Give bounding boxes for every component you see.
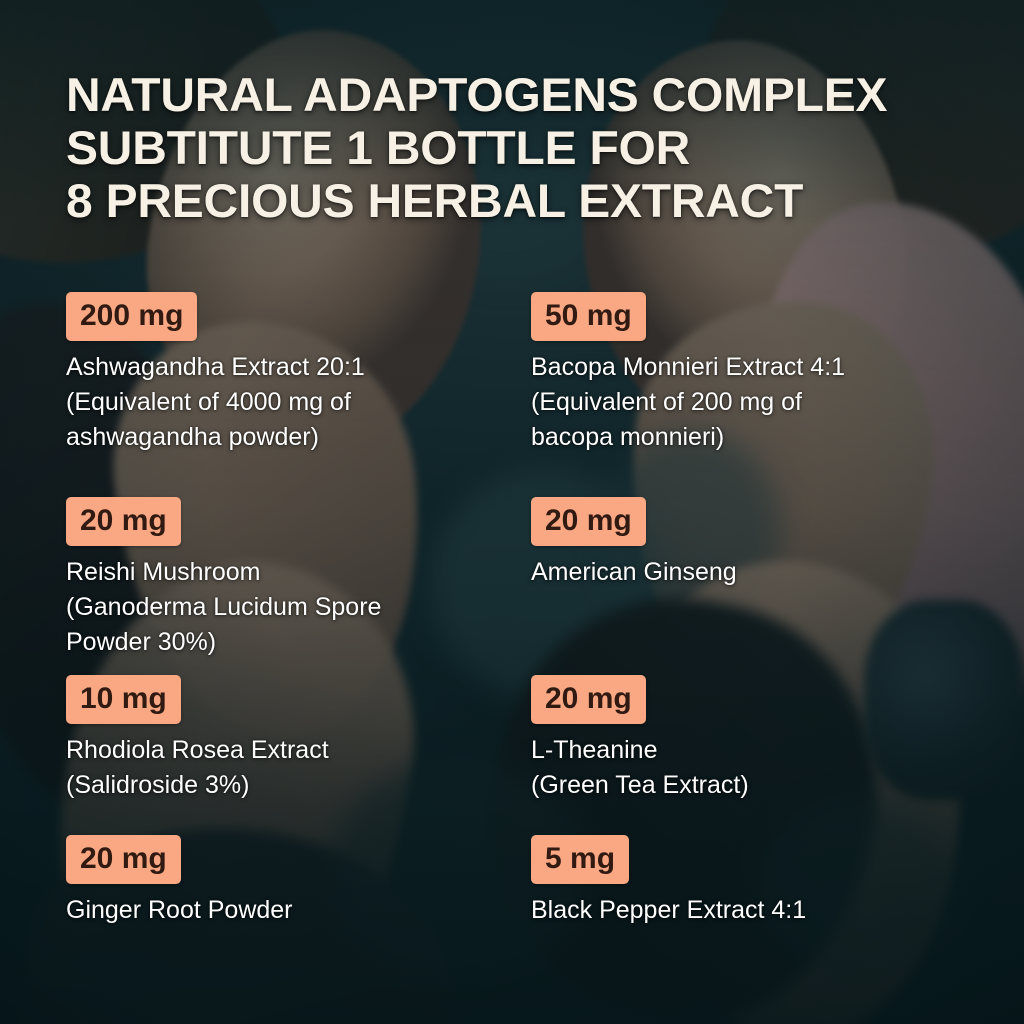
ingredient-description: Bacopa Monnieri Extract 4:1 (Equivalent …	[531, 350, 961, 455]
ingredient-item: 20 mg Reishi Mushroom (Ganoderma Lucidum…	[66, 497, 536, 660]
dose-badge: 5 mg	[531, 835, 629, 884]
headline-line-1: NATURAL ADAPTOGENS COMPLEX	[66, 68, 984, 121]
ingredient-item: 20 mg American Ginseng	[531, 497, 1001, 590]
ingredient-item: 5 mg Black Pepper Extract 4:1	[531, 835, 1001, 928]
ingredient-description: Ginger Root Powder	[66, 893, 496, 928]
poster-content: NATURAL ADAPTOGENS COMPLEX SUBTITUTE 1 B…	[0, 0, 1024, 1024]
dose-badge: 20 mg	[531, 675, 646, 724]
ingredient-line: Black Pepper Extract 4:1	[531, 893, 961, 928]
ingredient-description: Reishi Mushroom (Ganoderma Lucidum Spore…	[66, 555, 496, 660]
dose-badge: 20 mg	[66, 497, 181, 546]
ingredient-line: (Ganoderma Lucidum Spore	[66, 590, 496, 625]
headline-line-2: SUBTITUTE 1 BOTTLE FOR	[66, 121, 984, 174]
ingredient-line: Ginger Root Powder	[66, 893, 496, 928]
ingredient-line: (Equivalent of 200 mg of	[531, 385, 961, 420]
ingredient-item: 20 mg L-Theanine (Green Tea Extract)	[531, 675, 1001, 803]
dose-badge: 20 mg	[66, 835, 181, 884]
supplement-ingredients-poster: NATURAL ADAPTOGENS COMPLEX SUBTITUTE 1 B…	[0, 0, 1024, 1024]
ingredient-description: American Ginseng	[531, 555, 961, 590]
ingredient-line: American Ginseng	[531, 555, 961, 590]
ingredient-line: bacopa monnieri)	[531, 420, 961, 455]
ingredient-item: 200 mg Ashwagandha Extract 20:1 (Equival…	[66, 292, 536, 455]
ingredient-line: Reishi Mushroom	[66, 555, 496, 590]
ingredient-line: Rhodiola Rosea Extract	[66, 733, 496, 768]
dose-badge: 200 mg	[66, 292, 197, 341]
dose-badge: 20 mg	[531, 497, 646, 546]
ingredient-item: 50 mg Bacopa Monnieri Extract 4:1 (Equiv…	[531, 292, 1001, 455]
poster-headline: NATURAL ADAPTOGENS COMPLEX SUBTITUTE 1 B…	[66, 68, 966, 227]
ingredient-item: 20 mg Ginger Root Powder	[66, 835, 536, 928]
ingredient-line: Ashwagandha Extract 20:1	[66, 350, 496, 385]
ingredient-line: Powder 30%)	[66, 625, 496, 660]
ingredient-line: Bacopa Monnieri Extract 4:1	[531, 350, 961, 385]
ingredient-description: L-Theanine (Green Tea Extract)	[531, 733, 961, 803]
ingredient-description: Ashwagandha Extract 20:1 (Equivalent of …	[66, 350, 496, 455]
dose-badge: 10 mg	[66, 675, 181, 724]
dose-badge: 50 mg	[531, 292, 646, 341]
ingredient-line: L-Theanine	[531, 733, 961, 768]
ingredient-line: (Salidroside 3%)	[66, 768, 496, 803]
headline-line-3: 8 PRECIOUS HERBAL EXTRACT	[66, 174, 984, 227]
ingredient-line: (Equivalent of 4000 mg of	[66, 385, 496, 420]
ingredient-line: (Green Tea Extract)	[531, 768, 961, 803]
ingredient-line: ashwagandha powder)	[66, 420, 496, 455]
ingredient-description: Black Pepper Extract 4:1	[531, 893, 961, 928]
ingredient-item: 10 mg Rhodiola Rosea Extract (Salidrosid…	[66, 675, 536, 803]
ingredient-description: Rhodiola Rosea Extract (Salidroside 3%)	[66, 733, 496, 803]
